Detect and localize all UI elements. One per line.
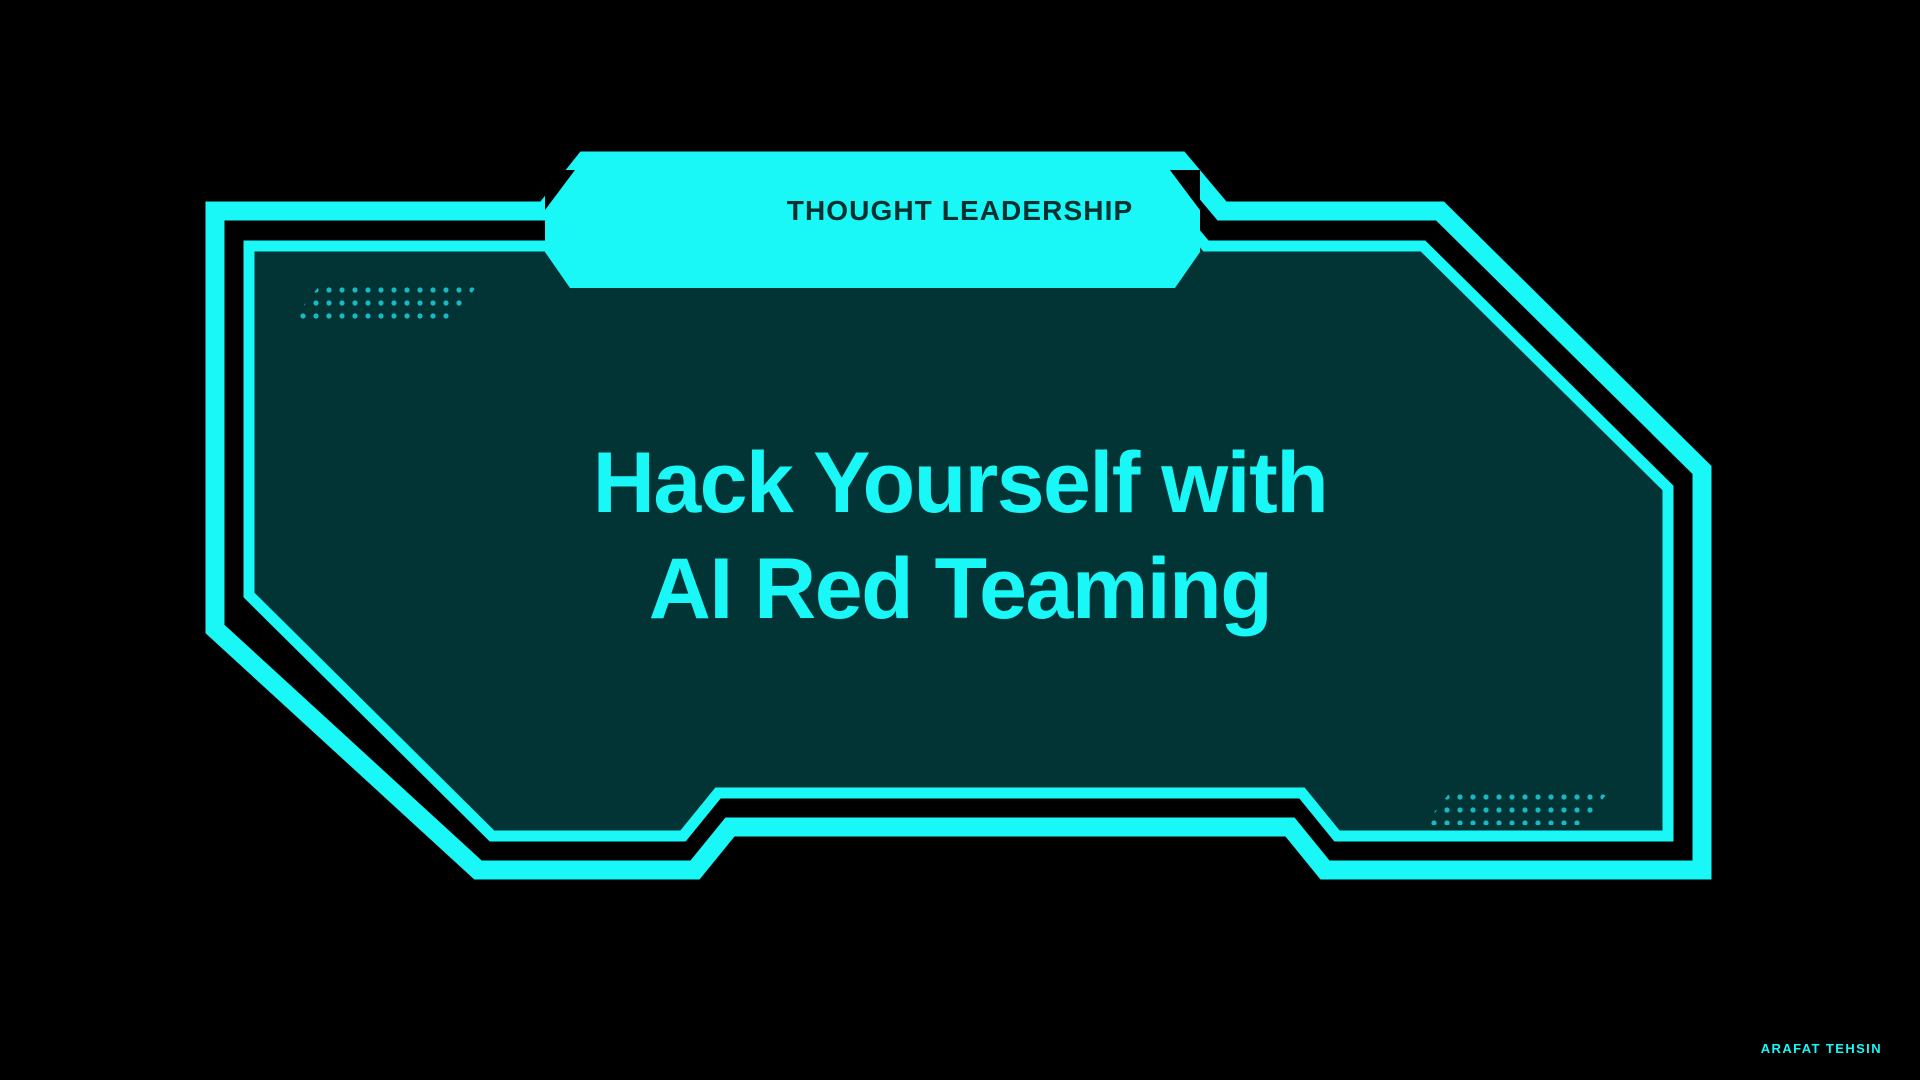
badge-tab <box>545 170 1200 288</box>
top-left-dot-panel <box>292 285 478 320</box>
badge-label: THOUGHT LEADERSHIP <box>0 197 1920 225</box>
slide-canvas: THOUGHT LEADERSHIP Hack Yourself with AI… <box>0 0 1920 1080</box>
headline: Hack Yourself with AI Red Teaming <box>0 440 1920 632</box>
headline-line-1: Hack Yourself with <box>0 440 1920 526</box>
badge-tab-shape <box>545 170 1200 288</box>
author-signature: ARAFAT TEHSIN <box>1761 1041 1882 1056</box>
bottom-right-dot-panel <box>1424 790 1610 825</box>
headline-line-2: AI Red Teaming <box>0 546 1920 632</box>
